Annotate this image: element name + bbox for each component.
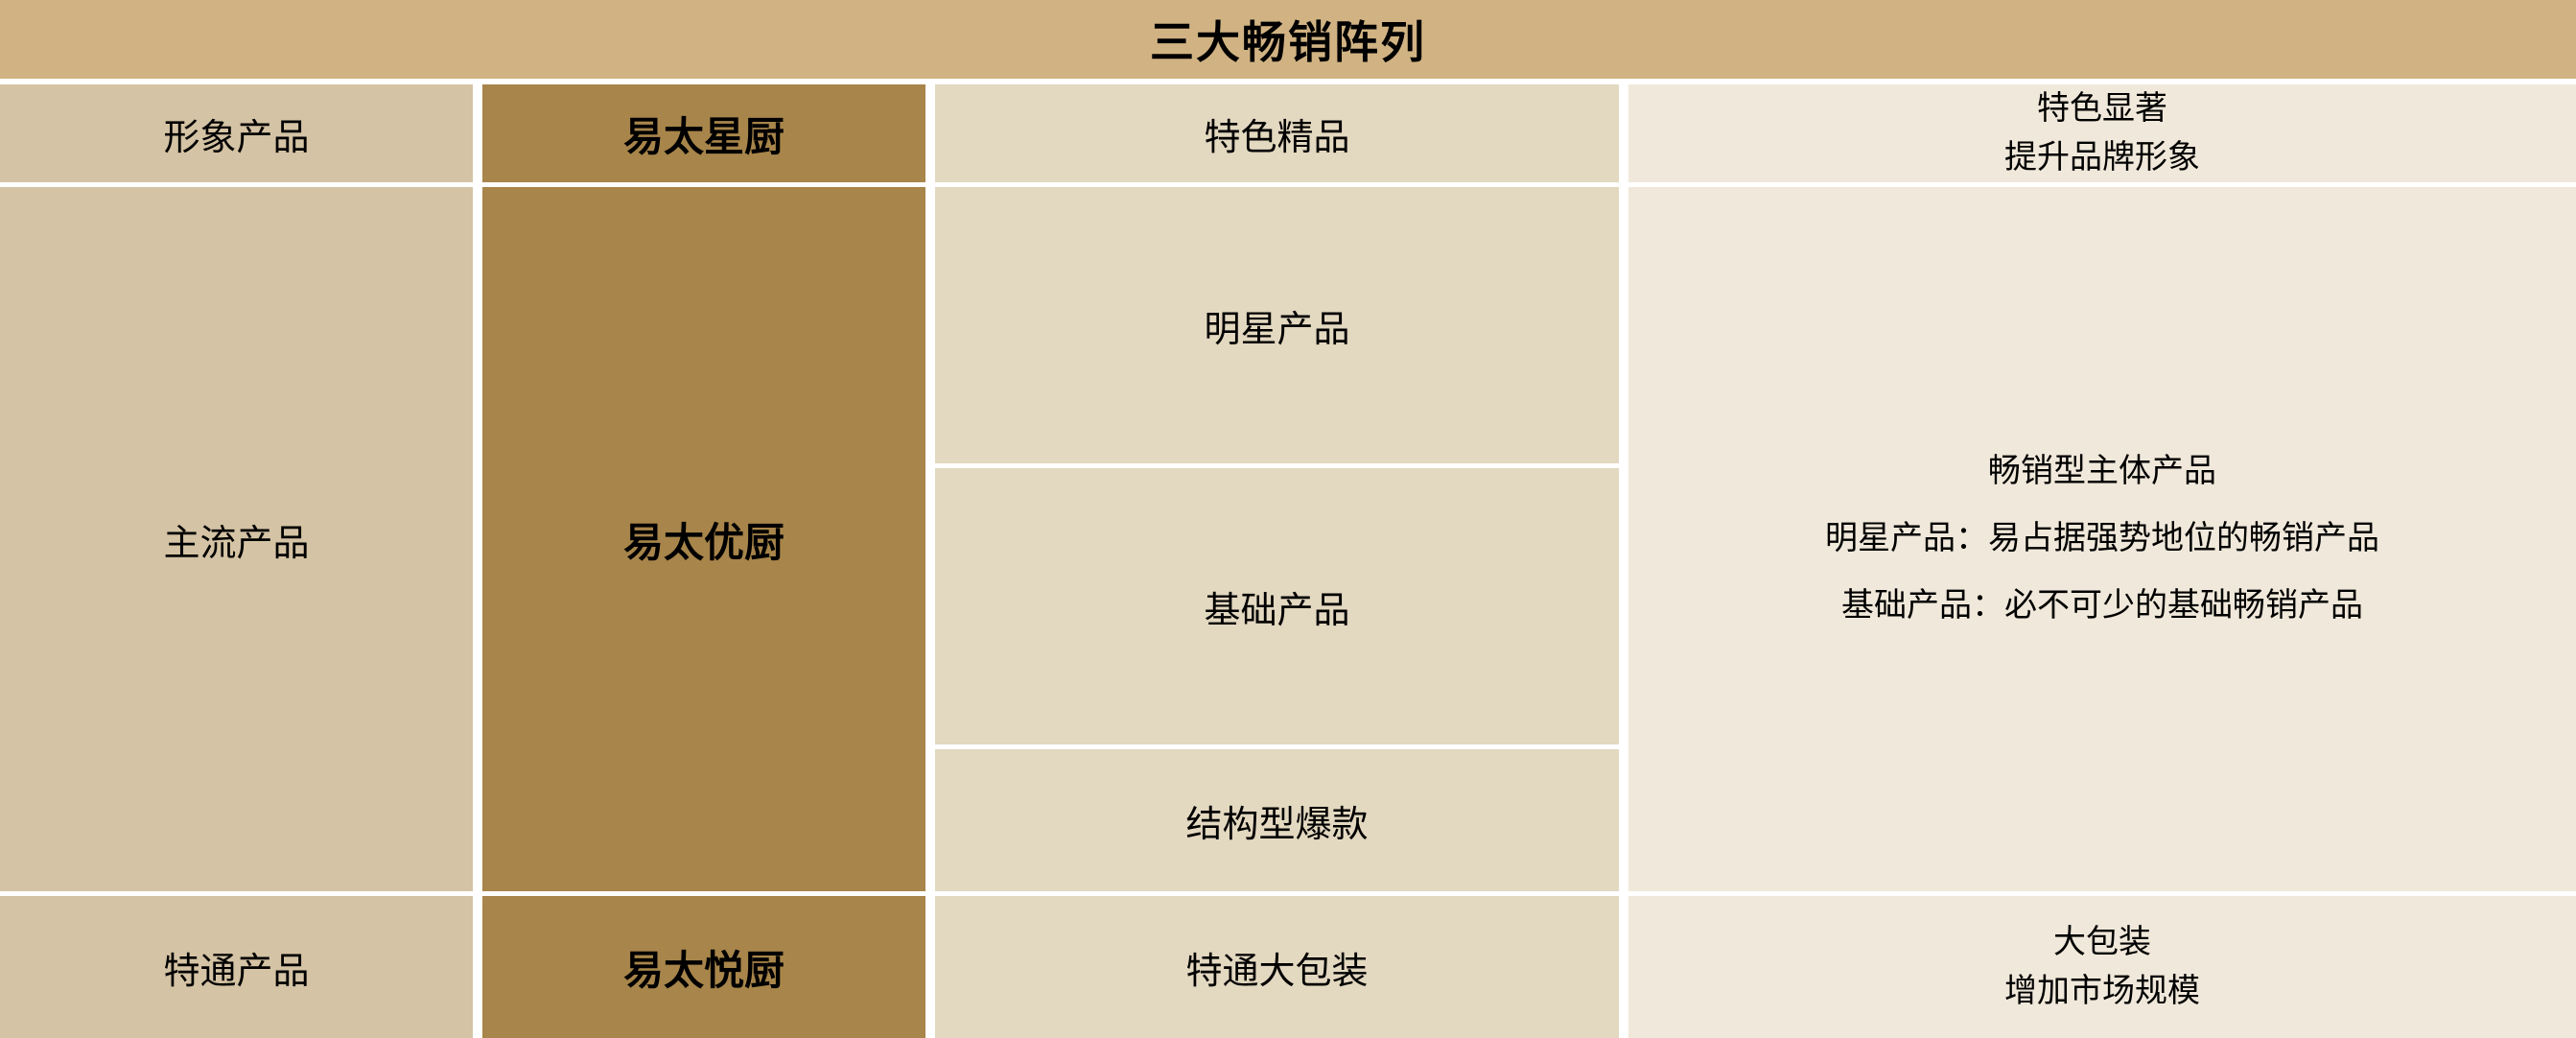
brand-cell-yitai-youchu: 易太优厨 (482, 187, 925, 891)
type-cell-structural-hit: 结构型爆款 (935, 749, 1619, 891)
description-line: 提升品牌形象 (2004, 133, 2200, 182)
column-divider (473, 187, 482, 891)
description-line: 明星产品：易占据强势地位的畅销产品 (1825, 506, 2379, 573)
description-line: 畅销型主体产品 (1988, 438, 2216, 506)
column-divider (925, 84, 935, 182)
table-body: 形象产品 易太星厨 特色精品 特色显著 提升品牌形象 主流产品 易太优厨 明星产… (0, 84, 2576, 1038)
product-matrix-table: 三大畅销阵列 形象产品 易太星厨 特色精品 特色显著 提升品牌形象 主流产品 易… (0, 0, 2576, 1025)
category-cell-image-product: 形象产品 (0, 84, 473, 182)
type-cell-star-product: 明星产品 (935, 187, 1619, 463)
description-line: 大包装 (2053, 918, 2151, 967)
brand-cell-yitai-xingchu: 易太星厨 (482, 84, 925, 182)
category-cell-mainstream-product: 主流产品 (0, 187, 473, 891)
type-cell-special-channel-bulk-pack: 特通大包装 (935, 896, 1619, 1038)
table-row-special-channel-product: 特通产品 易太悦厨 特通大包装 大包装 增加市场规模 (0, 896, 2576, 1038)
table-title: 三大畅销阵列 (0, 0, 2576, 79)
column-divider (473, 896, 482, 1038)
type-cell-specialty-premium: 特色精品 (935, 84, 1619, 182)
description-line: 基础产品：必不可少的基础畅销产品 (1841, 573, 2363, 640)
column-divider (1619, 896, 1628, 1038)
description-cell-special-channel-product: 大包装 增加市场规模 (1628, 896, 2576, 1038)
column-divider (473, 84, 482, 182)
column-divider (1619, 187, 1628, 891)
brand-cell-yitai-yuechu: 易太悦厨 (482, 896, 925, 1038)
table-row-mainstream-product: 主流产品 易太优厨 明星产品 基础产品 结构型爆款 畅销型主体产品 明星产品：易… (0, 187, 2576, 891)
type-cell-basic-product: 基础产品 (935, 468, 1619, 744)
description-line: 特色显著 (2037, 84, 2167, 133)
category-cell-special-channel-product: 特通产品 (0, 896, 473, 1038)
table-row-image-product: 形象产品 易太星厨 特色精品 特色显著 提升品牌形象 (0, 84, 2576, 182)
description-cell-mainstream-product: 畅销型主体产品 明星产品：易占据强势地位的畅销产品 基础产品：必不可少的基础畅销… (1628, 187, 2576, 891)
description-line: 增加市场规模 (2004, 967, 2200, 1016)
column-divider (1619, 84, 1628, 182)
type-cell-group-mainstream: 明星产品 基础产品 结构型爆款 (935, 187, 1619, 891)
description-cell-image-product: 特色显著 提升品牌形象 (1628, 84, 2576, 182)
column-divider (925, 187, 935, 891)
column-divider (925, 896, 935, 1038)
